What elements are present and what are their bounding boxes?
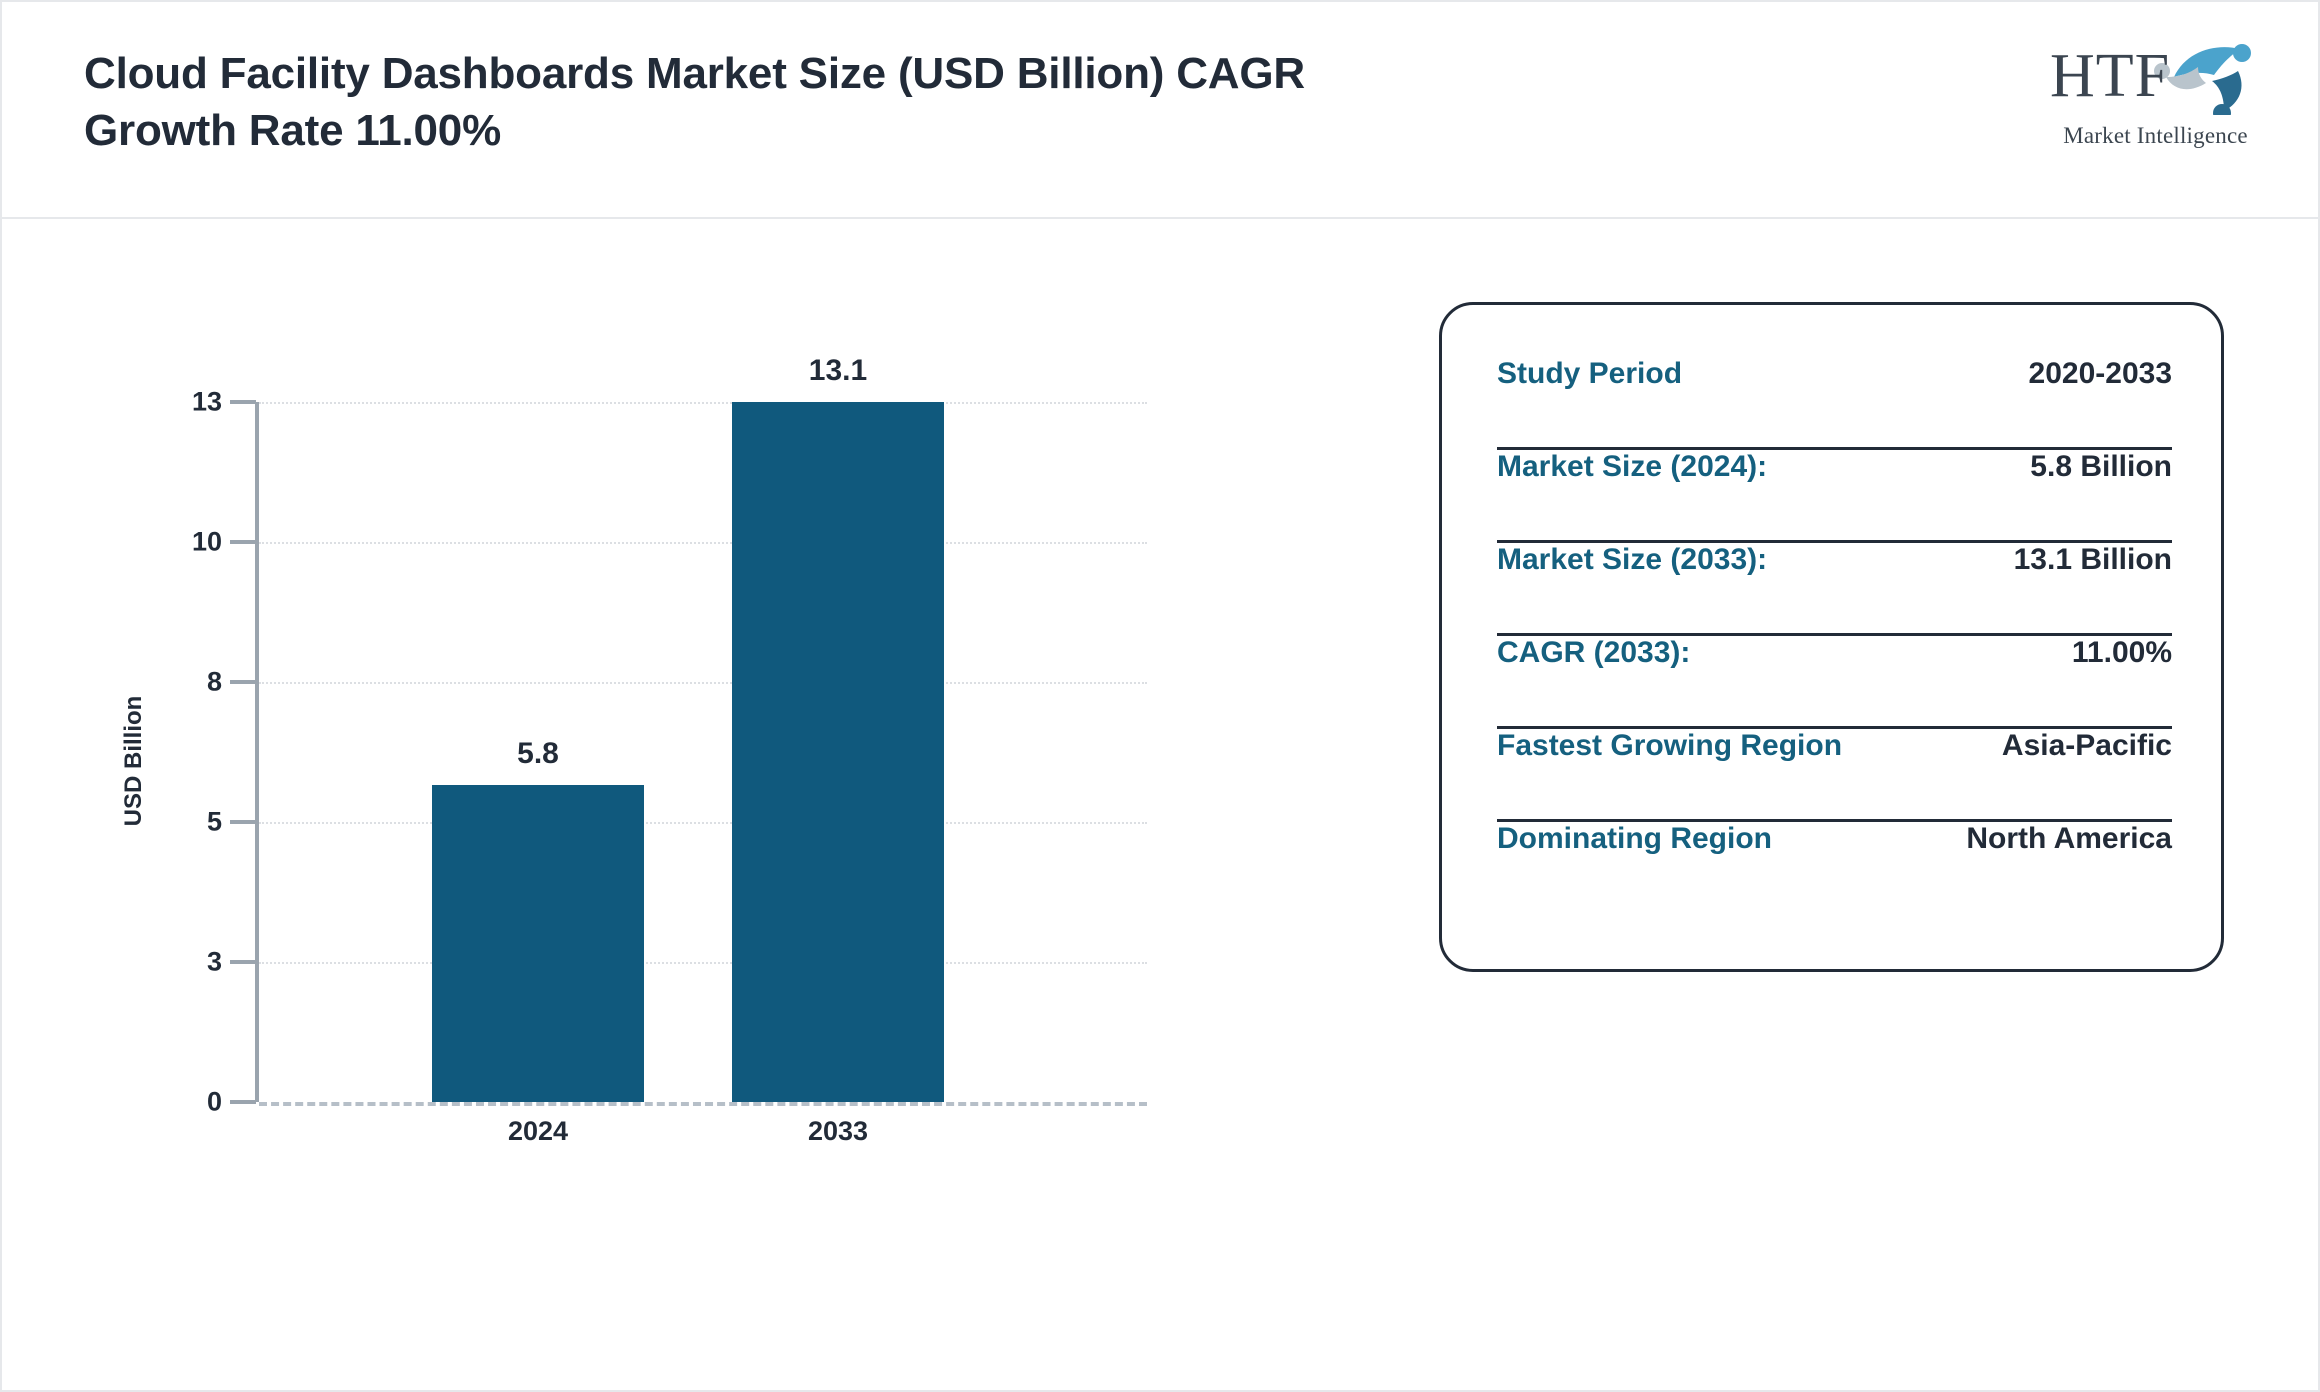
y-tick-label: 8 [102,667,222,698]
gridline [259,542,1147,544]
bar-value-label: 5.8 [432,737,644,771]
gridline [259,682,1147,684]
y-tick-label: 3 [102,947,222,978]
y-tick-mark [230,820,256,824]
summary-row-value: 11.00% [2072,636,2172,670]
summary-row-value: Asia-Pacific [2002,729,2172,763]
summary-row-label: Market Size (2033): [1497,543,1767,577]
y-tick-label: 5 [102,807,222,838]
summary-row-label: Fastest Growing Region [1497,729,1842,763]
bar-2033[interactable] [732,402,944,1102]
summary-row-label: Market Size (2024): [1497,450,1767,484]
summary-row-value: 2020-2033 [2029,357,2172,391]
y-tick-mark [230,960,256,964]
gridline [259,402,1147,404]
y-tick-label: 13 [102,387,222,418]
summary-row: Study Period2020-2033 [1497,357,2172,450]
summary-rows: Study Period2020-2033Market Size (2024):… [1497,357,2172,915]
gridline [259,822,1147,824]
x-tick-label: 2024 [432,1116,644,1147]
summary-row-value: 13.1 Billion [2014,543,2172,577]
y-tick-label: 10 [102,527,222,558]
summary-row-label: CAGR (2033): [1497,636,1690,670]
summary-row-label: Dominating Region [1497,822,1772,856]
brand-logo: HTF Market Intelligence [2048,37,2263,149]
bar-chart: USD Billion 035810135.8202413.12033 [2,219,1302,1392]
summary-row: Market Size (2024):5.8 Billion [1497,450,2172,543]
y-tick-mark [230,400,256,404]
logo-wordmark: Market Intelligence [2048,123,2263,149]
summary-row: CAGR (2033):11.00% [1497,636,2172,729]
bar-value-label: 13.1 [732,354,944,388]
summary-row-value: 5.8 Billion [2030,450,2172,484]
market-summary-card: Study Period2020-2033Market Size (2024):… [1439,302,2224,972]
y-tick-mark [230,540,256,544]
x-tick-label: 2033 [732,1116,944,1147]
summary-row-value: North America [1966,822,2172,856]
y-axis-title: USD Billion [120,621,148,901]
summary-row: Fastest Growing RegionAsia-Pacific [1497,729,2172,822]
chart-page: Cloud Facility Dashboards Market Size (U… [0,0,2320,1392]
summary-row: Dominating RegionNorth America [1497,822,2172,915]
htf-swirl-logo-icon: HTF [2048,37,2263,115]
page-title: Cloud Facility Dashboards Market Size (U… [84,45,1384,159]
page-header: Cloud Facility Dashboards Market Size (U… [2,2,2318,219]
logo-initials: HTF [2050,45,2170,107]
y-tick-mark [230,1100,256,1104]
plot-area: USD Billion 035810135.8202413.12033 [2,219,1302,1392]
y-tick-label: 0 [102,1087,222,1118]
gridline [259,1102,1147,1106]
y-axis-spine [255,402,259,1102]
summary-row: Market Size (2033):13.1 Billion [1497,543,2172,636]
summary-row-label: Study Period [1497,357,1682,391]
bar-2024[interactable] [432,785,644,1102]
y-tick-mark [230,680,256,684]
gridline [259,962,1147,964]
